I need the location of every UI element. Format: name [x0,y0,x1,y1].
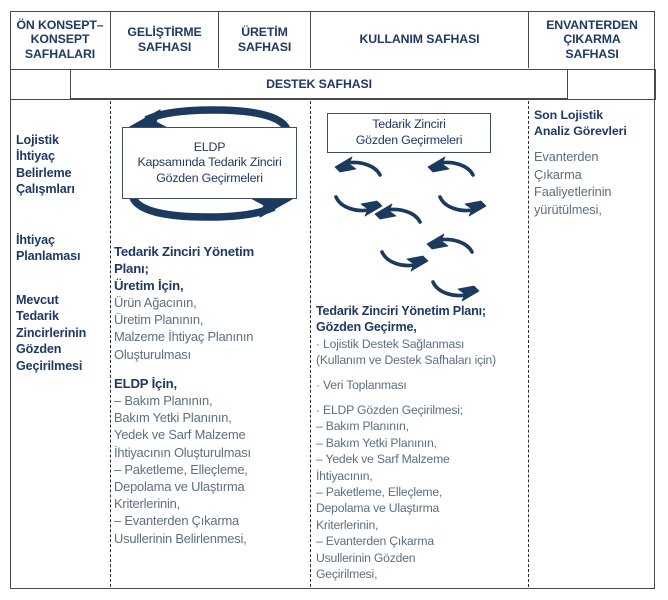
header-cell-phase-pre-concept: ÖN KONSEPT– KONSEPT SAFHALARI [10,11,110,68]
col3-heading-1: Tedarik Zinciri Yönetim Planı; [316,303,531,319]
header-cell-phase-production: ÜRETİM SAFHASI [218,11,310,68]
header-cell-phase-utilization: KULLANIM SAFHASI [310,11,528,68]
col2-body-1: Ürün Ağacının, Üretim Planının, Malzeme … [114,294,310,363]
col2-body-2: – Bakım Planının, Bakım Yetki Planının, … [114,392,314,547]
col2-heading-2: Üretim İçin, [114,277,306,294]
col3-body-2: · Veri Toplanması [316,377,536,393]
col3-body-3: · ELDP Gözden Geçirilmesi; – Bakım Planı… [316,402,538,582]
col4-body: Evanterden Çıkarma Faaliyetlerinin yürüt… [534,148,652,218]
col2-heading-3: ELDP İçin, [114,375,306,392]
header-cell-phase-development: GELİŞTİRME SAFHASI [110,11,218,68]
supply-chain-review-box: Tedarik Zinciri Gözden Geçirmeleri [327,113,491,153]
col3-heading-2: Gözden Geçirme, [316,319,531,335]
body-top-rule [10,99,655,100]
col4-heading: Son Lojistik Analiz Görevleri [534,107,652,139]
col2-heading-1: Tedarik Zinciri Yönetim Planı; [114,243,306,277]
col1-item-1: Lojistik İhtiyaç Belirleme Çalışmları [16,132,108,198]
supply-chain-lifecycle-diagram: ÖN KONSEPT– KONSEPT SAFHALARI GELİŞTİRME… [0,0,668,600]
eldp-cycle-box: ELDP Kapsamında Tedarik Zinciri Gözden G… [122,127,297,199]
col3-body-1: · Lojistik Destek Sağlanması (Kullanım v… [316,336,536,369]
eldp-cycle-box-label: ELDP Kapsamında Tedarik Zinciri Gözden G… [137,140,281,187]
header-stub-right-outer [655,69,656,100]
support-phase-label: DESTEK SAFHASI [266,77,372,91]
header-label-phase-pre-concept: ÖN KONSEPT– KONSEPT SAFHALARI [16,18,103,61]
header-label-phase-disposal: ENVANTERDEN ÇIKARMA SAFHASI [546,18,638,61]
support-phase-bar: DESTEK SAFHASI [70,70,568,99]
col1-item-3: Mevcut Tedarik Zincirlerinin Gözden Geçi… [16,292,111,374]
header-label-phase-utilization: KULLANIM SAFHASI [360,32,480,46]
header-label-phase-production: ÜRETİM SAFHASI [238,25,291,53]
col1-item-2: İhtiyaç Planlaması [16,232,108,265]
supply-chain-review-box-label: Tedarik Zinciri Gözden Geçirmeleri [356,117,463,148]
header-stub-left-outer [10,69,11,100]
header-cell-phase-disposal: ENVANTERDEN ÇIKARMA SAFHASI [528,11,655,68]
header-label-phase-development: GELİŞTİRME SAFHASI [127,25,201,53]
